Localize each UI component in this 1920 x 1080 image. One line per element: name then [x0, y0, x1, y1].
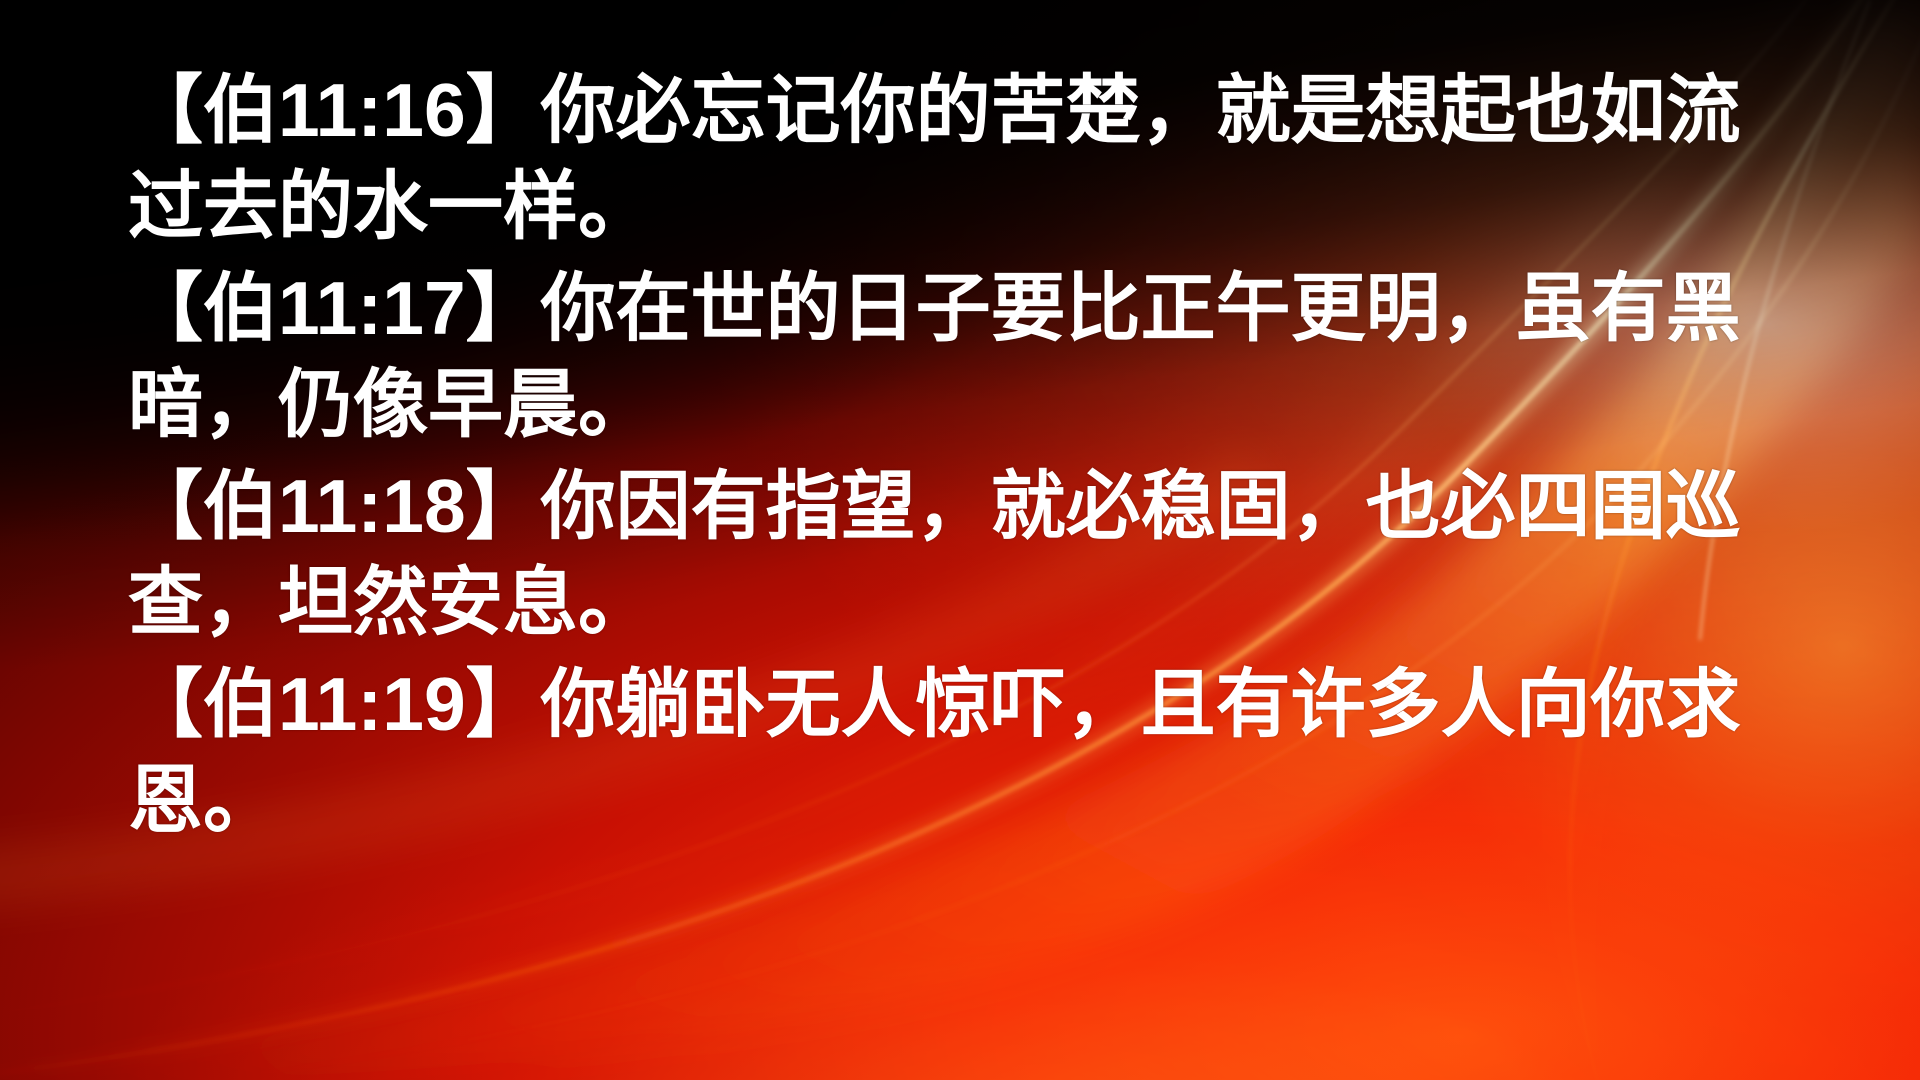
verse-line: 【伯11:18】你因有指望，就必稳固，也必四围巡查，坦然安息。: [128, 458, 1808, 650]
verse-line: 【伯11:19】你躺卧无人惊吓，且有许多人向你求恩。: [128, 656, 1808, 848]
verse-line: 【伯11:17】你在世的日子要比正午更明，虽有黑暗，仍像早晨。: [128, 260, 1808, 452]
verse-block: 【伯11:16】你必忘记你的苦楚，就是想起也如流过去的水一样。 【伯11:17】…: [128, 62, 1808, 848]
presentation-slide: 【伯11:16】你必忘记你的苦楚，就是想起也如流过去的水一样。 【伯11:17】…: [0, 0, 1920, 1080]
verse-line: 【伯11:16】你必忘记你的苦楚，就是想起也如流过去的水一样。: [128, 62, 1808, 254]
